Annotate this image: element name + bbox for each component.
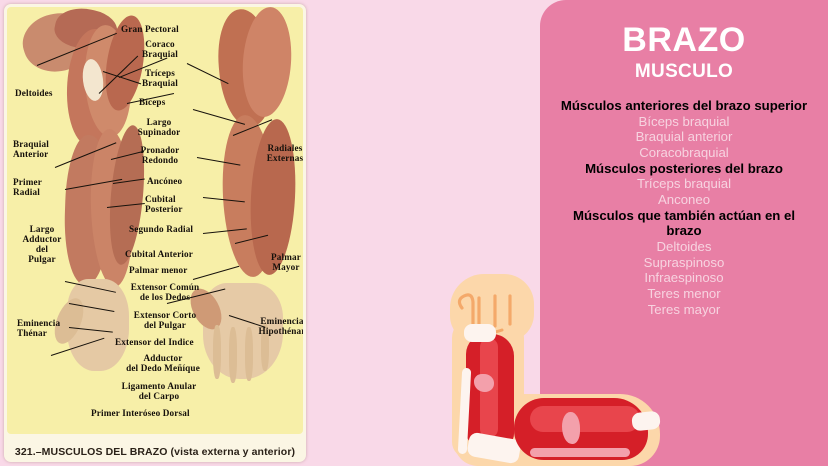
biceps-striation [474,374,494,392]
anatomy-label-eminencia-thenar: Eminencia Thénar [17,319,60,339]
anatomy-label-eminencia-hipothenar: Eminencia Hipothénar [251,317,303,337]
anatomy-label-coraco-braquial: Coraco Braquial [131,40,189,60]
anatomy-label-adductor-del-dedo-menique: Adductor del Dedo Meñíque [113,354,213,374]
muscle-list-item: Tríceps braquial [556,176,812,192]
finger-shape-2 [229,327,237,383]
anatomy-label-largo-adductor-del-pulgar: Largo Adductor del Pulgar [11,225,73,265]
biceps-tendon-upper [464,324,496,342]
anatomy-label-anconeo: Ancóneo [147,177,182,187]
anatomy-plate: Deltoides Braquial Anterior Primer Radia… [4,4,306,462]
anatomy-label-biceps: Bíceps [139,98,165,108]
anatomy-label-primer-radial: Primer Radial [13,178,42,198]
muscle-group-heading: Músculos anteriores del brazo superior [556,98,812,114]
plate-caption: 321.–MUSCULOS DEL BRAZO (vista externa y… [4,446,306,458]
panel-subtitle: MUSCULO [540,62,828,81]
anatomy-label-primer-interoseo-dorsal: Primer Interóseo Dorsal [91,409,190,419]
anatomy-label-extensor-corto-del-pulgar: Extensor Corto del Pulgar [121,311,209,331]
anatomy-label-extensor-comun-de-los-dedos: Extensor Común de los Dedos [119,283,211,303]
forearm-striation-lower [530,448,630,457]
anatomy-label-braquial-anterior: Braquial Anterior [13,140,49,160]
muscle-list-item: Supraspinoso [556,255,812,271]
anatomy-label-cubital-anterior: Cubital Anterior [125,250,193,260]
anatomy-label-cubital-posterior: Cubital Posterior [145,195,183,215]
forearm-striation [562,412,580,444]
anatomy-label-deltoides: Deltoides [15,89,53,99]
anatomy-label-palmar-mayor: Palmar Mayor [263,253,303,273]
muscle-list-item: Bíceps braquial [556,114,812,130]
anatomy-label-palmar-menor: Palmar menor [129,266,188,276]
anatomy-label-ligamento-anular-del-carpo: Ligamento Anular del Carpo [111,382,207,402]
muscle-group-heading: Músculos posteriores del brazo [556,161,812,177]
muscle-list-item: Braquial anterior [556,129,812,145]
muscle-group-heading: Músculos que también actúan en el brazo [556,208,812,239]
anatomy-label-extensor-del-indice: Extensor del Indice [115,338,194,348]
anatomy-plate-image: Deltoides Braquial Anterior Primer Radia… [7,7,303,434]
anatomy-label-pronador-redondo: Pronador Redondo [127,146,193,166]
muscle-list-item: Coracobraquial [556,145,812,161]
anatomy-label-radiales-externas: Radiales Externas [257,144,303,164]
anatomy-label-triceps-braquial: Tríceps Braquial [133,69,187,89]
panel-title: BRAZO [540,23,828,57]
slide-root: Deltoides Braquial Anterior Primer Radia… [0,0,828,466]
leader-line [193,266,239,280]
anatomy-label-segundo-radial: Segundo Radial [129,225,193,235]
muscle-list-item: Anconeo [556,192,812,208]
finger-shape-1 [213,325,221,379]
anatomy-label-largo-supinador: Largo Supinador [125,118,193,138]
anatomy-label-gran-pectoral: Gran Pectoral [121,25,179,35]
forearm-muscle-highlight [530,406,640,432]
flexed-arm-illustration [408,272,658,466]
muscle-list-item: Deltoides [556,239,812,255]
